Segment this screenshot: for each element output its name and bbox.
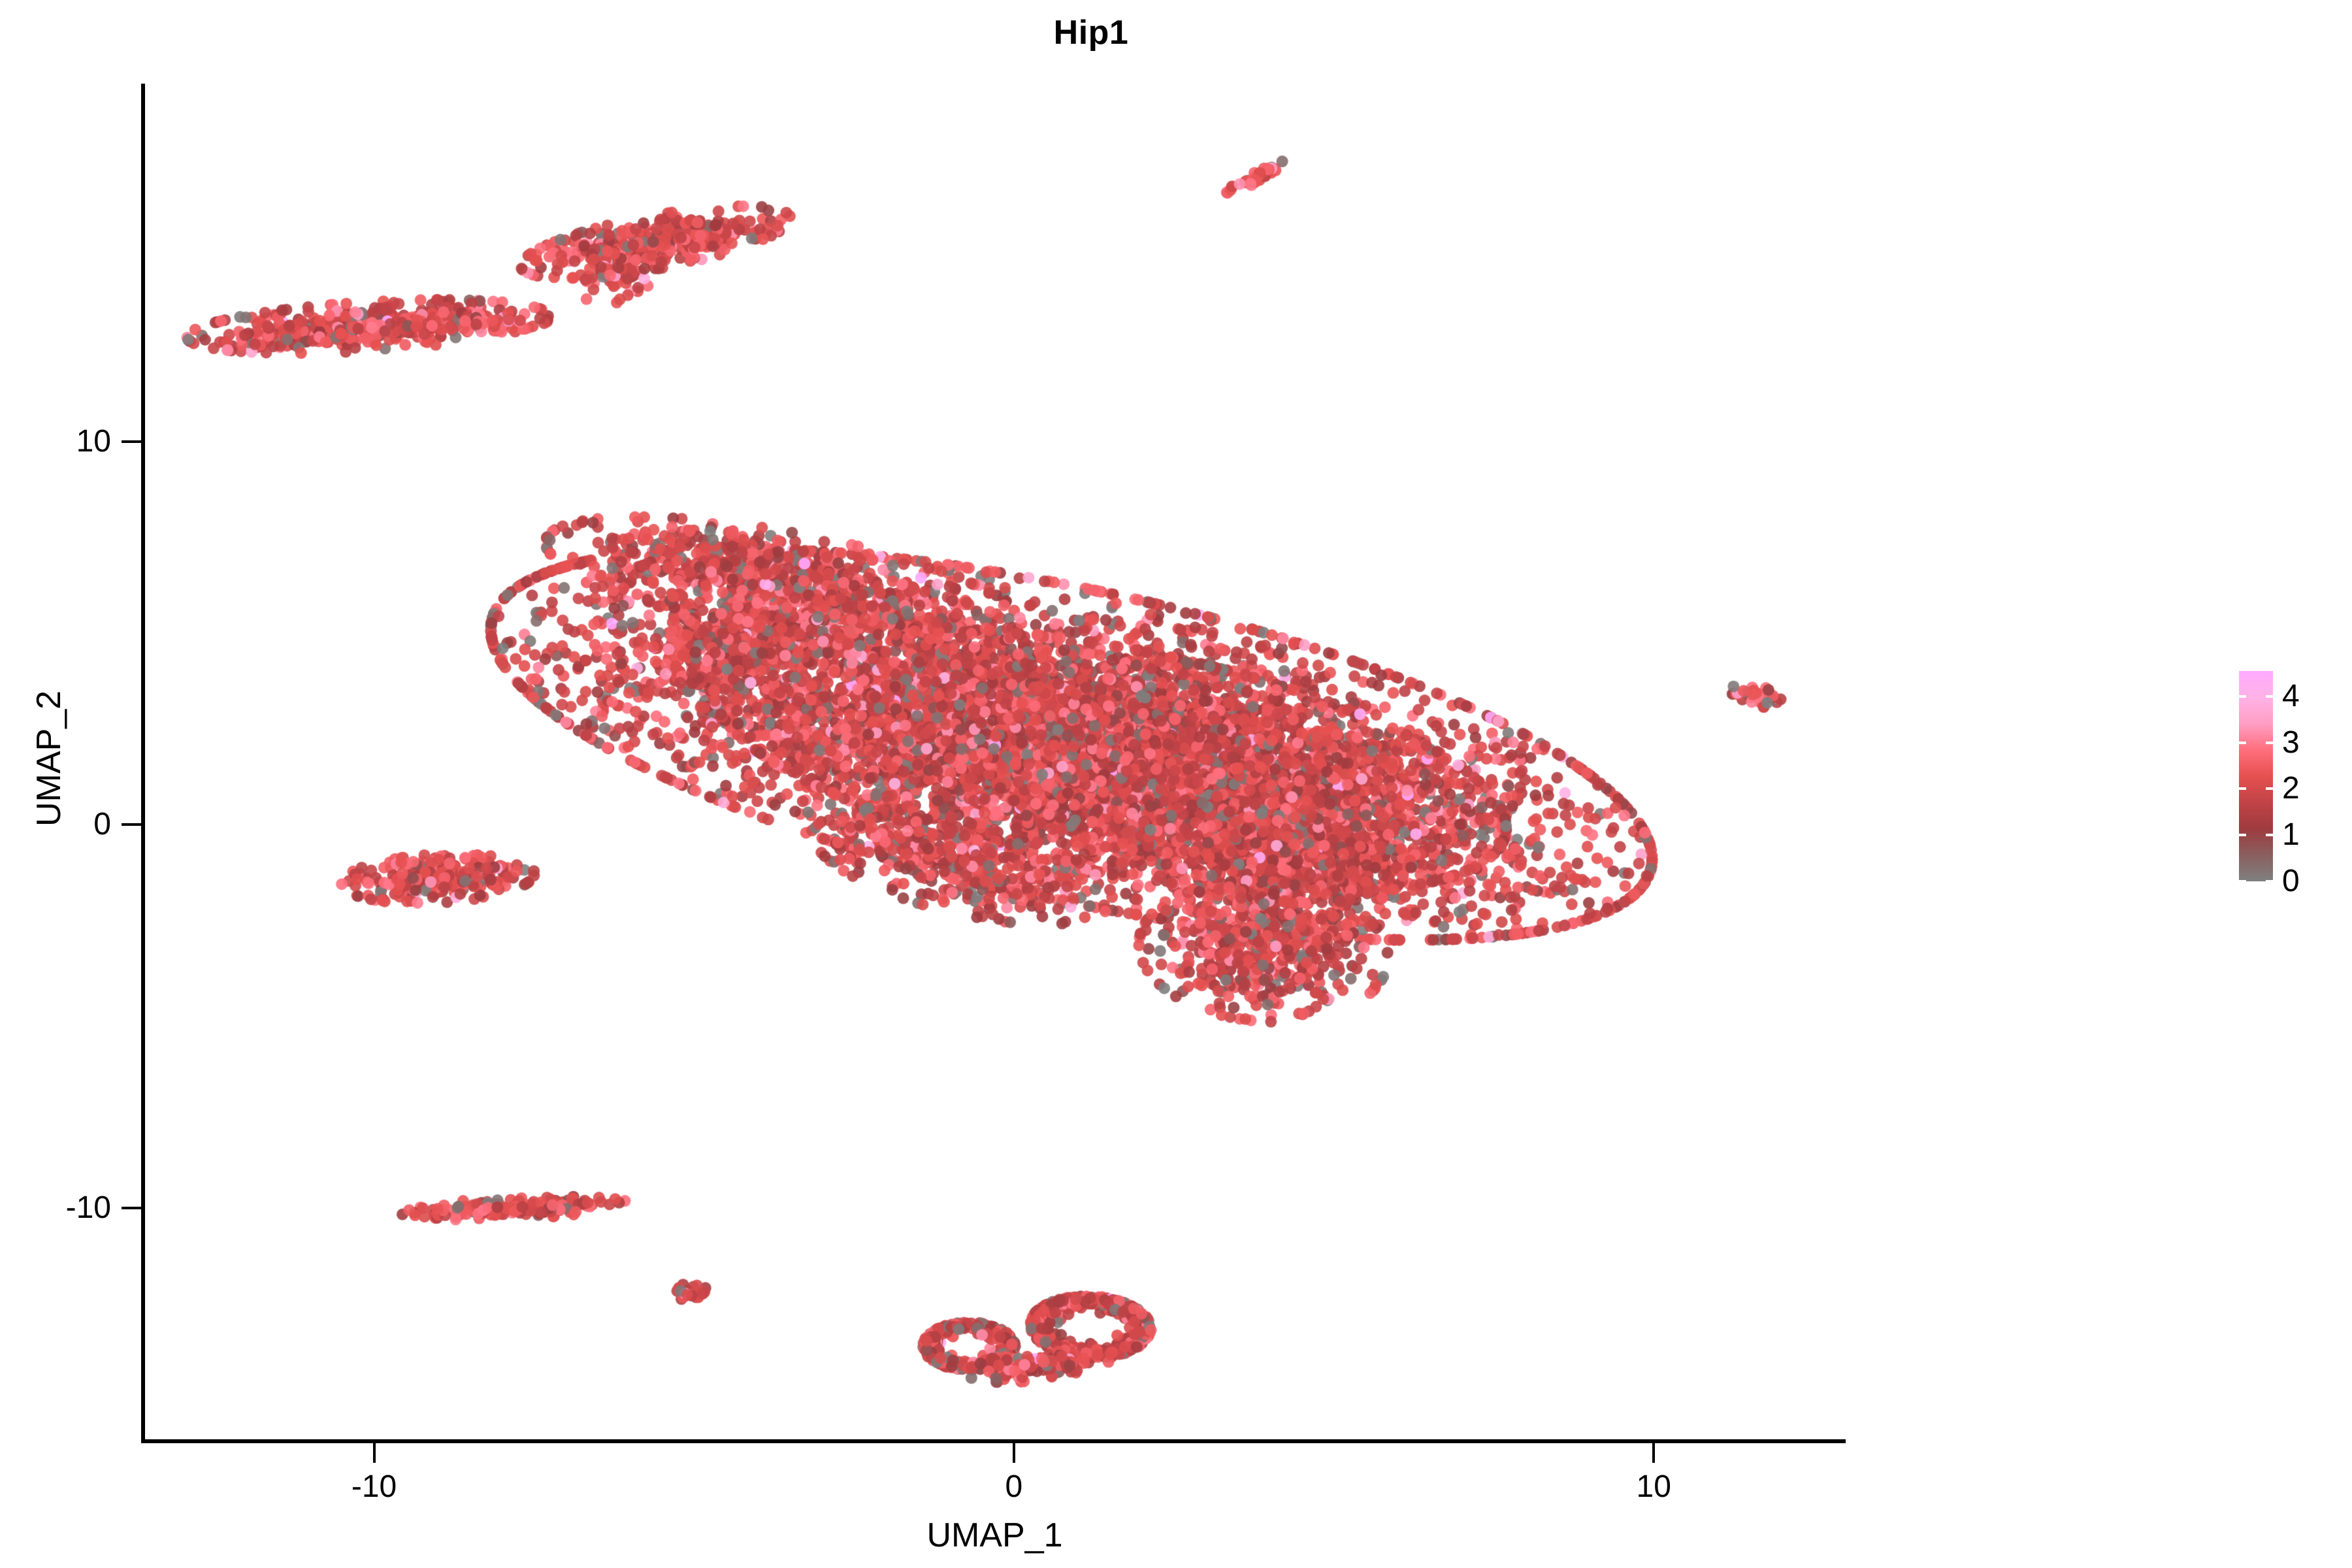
legend-tick-mark [2239,787,2246,790]
x-axis-line [141,1439,1846,1443]
x-tick-label: 10 [1556,1469,1752,1505]
scatter-canvas [144,85,1846,1442]
y-axis-label: UMAP_2 [29,367,69,1151]
legend-tick-mark [2266,880,2273,883]
y-tick-label: -10 [0,1190,111,1226]
legend-tick-label: 1 [2282,817,2341,853]
legend-tick-mark [2239,742,2246,744]
y-tick-mark [122,440,141,443]
legend-tick-label: 3 [2282,725,2341,761]
y-tick-mark [122,1207,141,1209]
y-tick-mark [122,823,141,826]
x-tick-mark [373,1443,376,1463]
x-tick-mark [1652,1443,1655,1463]
color-legend: 43210 [2239,671,2273,881]
y-axis-line [141,84,145,1443]
legend-tick-mark [2266,742,2273,744]
legend-tick-mark [2239,695,2246,698]
umap-scatter-plot: Hip1 -10010 100-10 UMAP_1 UMAP_2 43210 [0,0,2352,1568]
x-axis-label: UMAP_1 [144,1516,1846,1555]
x-tick-mark [1013,1443,1015,1463]
legend-tick-mark [2239,834,2246,836]
legend-tick-label: 2 [2282,770,2341,807]
legend-tick-mark [2266,787,2273,790]
plot-panel [144,85,1846,1442]
page-title: Hip1 [0,13,2182,52]
x-tick-label: -10 [276,1469,472,1505]
legend-gradient-bar [2239,671,2273,881]
legend-tick-mark [2239,880,2246,883]
legend-tick-mark [2266,834,2273,836]
legend-tick-label: 0 [2282,863,2341,900]
x-tick-label: 0 [916,1469,1112,1505]
legend-tick-mark [2266,695,2273,698]
legend-tick-label: 4 [2282,678,2341,715]
